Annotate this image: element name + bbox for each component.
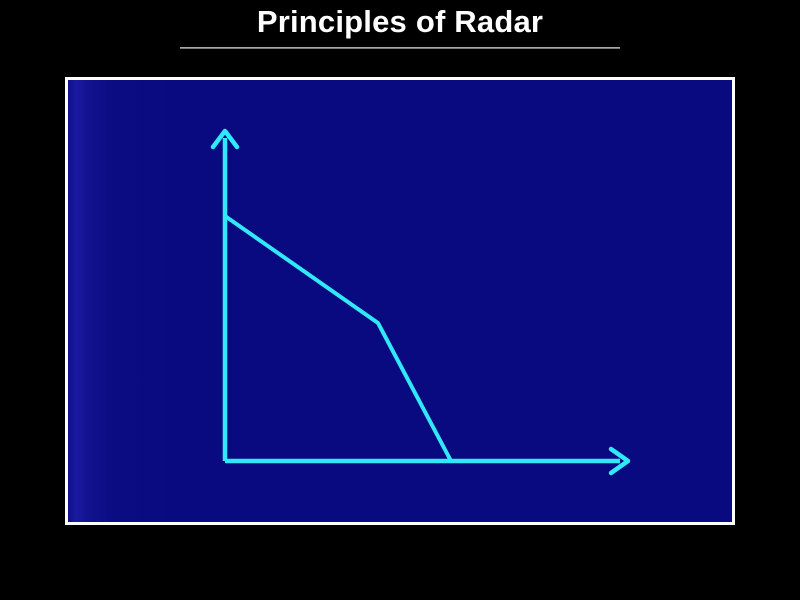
slide: Principles of Radar: [0, 0, 800, 600]
slide-content-frame: [65, 77, 735, 525]
data-series-line: [225, 216, 451, 461]
line-chart: [68, 80, 738, 528]
page-title: Principles of Radar: [257, 2, 543, 42]
title-divider: [180, 47, 620, 49]
slide-content-background: [68, 80, 732, 522]
title-bar: Principles of Radar: [0, 2, 800, 46]
